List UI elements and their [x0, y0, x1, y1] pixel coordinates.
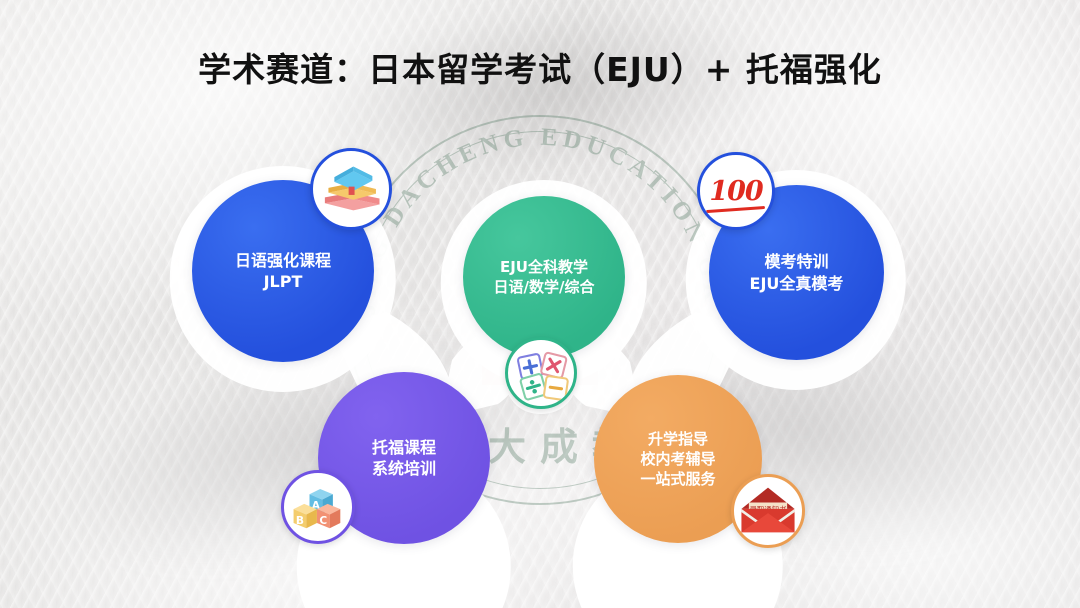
score-100-icon-badge[interactable]: 100	[697, 152, 775, 230]
node-eju-line-1: EJU全科教学	[500, 257, 588, 277]
node-mock-exam-line-2: EJU全真模考	[750, 273, 844, 294]
svg-text:C: C	[319, 514, 327, 527]
node-admission-guidance-line-3: 一站式服务	[640, 469, 715, 489]
admission-letter-icon-badge[interactable]: 录取通知书	[731, 474, 805, 548]
node-jlpt-line-1: 日语强化课程	[235, 250, 331, 271]
node-eju-line-2: 日语/数学/综合	[494, 277, 595, 297]
node-eju[interactable]: EJU全科教学 日语/数学/综合	[463, 196, 625, 358]
math-symbols-icon-badge[interactable]	[505, 337, 577, 409]
abc-blocks-icon-badge[interactable]: A B C	[281, 470, 355, 544]
score-100-icon: 100	[709, 178, 762, 205]
books-icon-badge[interactable]	[310, 148, 392, 230]
math-symbols-icon	[508, 340, 574, 406]
abc-blocks-icon: A B C	[284, 473, 352, 541]
svg-text:B: B	[296, 514, 304, 527]
node-admission-guidance-line-2: 校内考辅导	[640, 449, 715, 469]
node-jlpt-line-2: JLPT	[264, 271, 303, 292]
node-toefl-line-1: 托福课程	[372, 437, 436, 458]
admission-letter-icon: 录取通知书	[734, 477, 802, 545]
node-admission-guidance-line-1: 升学指导	[648, 429, 708, 449]
books-icon	[313, 151, 389, 227]
venn-cluster-diagram: 日语强化课程 JLPT EJU全科教学 日语/数学/综合 模考特训 EJU全真模…	[0, 0, 1080, 608]
node-mock-exam-line-1: 模考特训	[764, 251, 828, 272]
page-title: 学术赛道：日本留学考试（EJU）+ 托福强化	[0, 43, 1080, 91]
node-toefl-line-2: 系统培训	[372, 458, 436, 479]
